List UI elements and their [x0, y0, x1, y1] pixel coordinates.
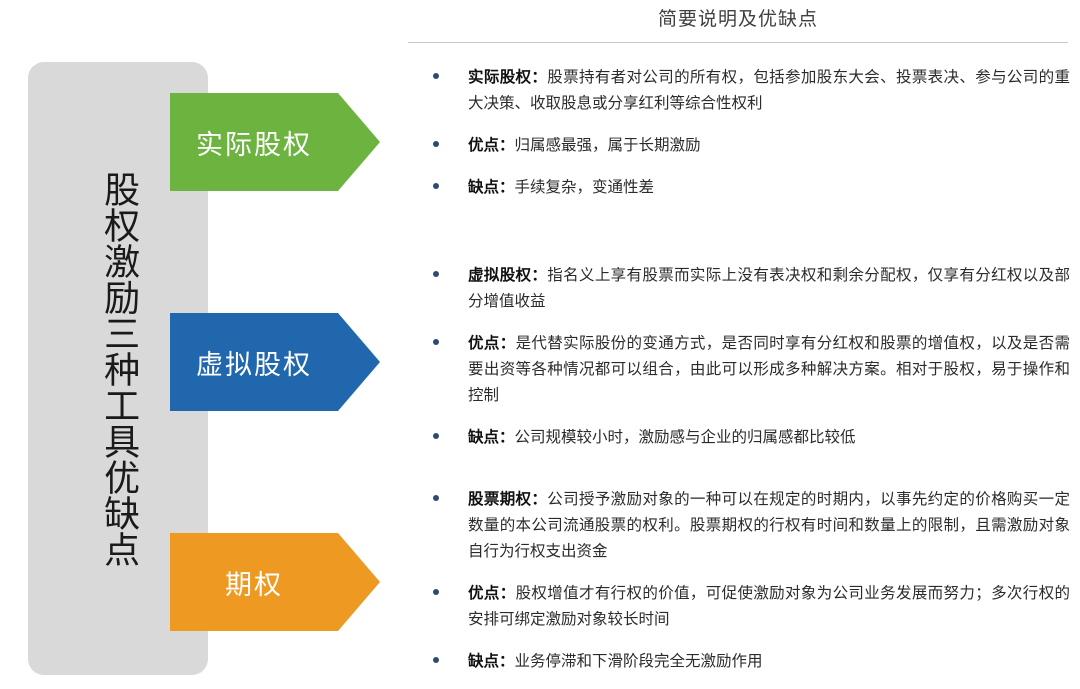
bullet-dot-icon [433, 183, 439, 189]
bullet-lead-label: 股票期权： [468, 490, 547, 508]
bullet-text: 优点：归属感最强，属于长期激励 [468, 132, 1070, 158]
bullet-body-text: 指名义上享有股票而实际上没有表决权和剩余分配权，仅享有分红权以及部分增值收益 [468, 266, 1070, 310]
bullet-lead-label: 优点： [468, 334, 516, 352]
bullet-lead-label: 实际股权： [468, 68, 547, 86]
arrow-stock-option[interactable]: 期权 [170, 533, 380, 631]
arrow-actual-equity[interactable]: 实际股权 [170, 93, 380, 191]
bullet-lead-label: 优点： [468, 584, 516, 602]
bullet-dot-icon [433, 657, 439, 663]
bullet-dot-icon [433, 433, 439, 439]
infographic-canvas: 简要说明及优缺点 股权激励三种工具优缺点 实际股权 虚拟股权 期权 实际股权：股… [0, 0, 1080, 689]
bullet-text: 实际股权：股票持有者对公司的所有权，包括参加股东大会、投票表决、参与公司的重大决… [468, 64, 1070, 116]
bullet-row: 优点：是代替实际股份的变通方式，是否同时享有分红权和股票的增值权，以及是否需要出… [410, 330, 1070, 408]
bullet-dot-icon [433, 495, 439, 501]
bullet-row: 优点：归属感最强，属于长期激励 [410, 132, 1070, 158]
bullet-row: 优点：股权增值才有行权的价值，可促使激励对象为公司业务发展而努力；多次行权的安排… [410, 580, 1070, 632]
bullet-dot-icon [433, 141, 439, 147]
bullet-text: 缺点：公司规模较小时，激励感与企业的归属感都比较低 [468, 424, 1070, 450]
section-stock-option: 股票期权：公司授予激励对象的一种可以在规定的时期内，以事先约定的价格购买一定数量… [410, 486, 1070, 674]
bullet-body-text: 股票持有者对公司的所有权，包括参加股东大会、投票表决、参与公司的重大决策、收取股… [468, 68, 1070, 112]
bullet-lead-label: 优点： [468, 136, 515, 154]
bullet-body-text: 公司授予激励对象的一种可以在规定的时期内，以事先约定的价格购买一定数量的本公司流… [468, 490, 1070, 560]
bullet-text: 股票期权：公司授予激励对象的一种可以在规定的时期内，以事先约定的价格购买一定数量… [468, 486, 1070, 564]
bullet-row: 缺点：手续复杂，变通性差 [410, 174, 1070, 200]
bullet-row: 股票期权：公司授予激励对象的一种可以在规定的时期内，以事先约定的价格购买一定数量… [410, 486, 1070, 564]
header-divider [408, 42, 1068, 43]
bullet-lead-label: 缺点： [468, 428, 515, 446]
bullet-body-text: 业务停滞和下滑阶段完全无激励作用 [515, 652, 763, 670]
page-title: 简要说明及优缺点 [408, 6, 1068, 34]
bullet-body-text: 是代替实际股份的变通方式，是否同时享有分红权和股票的增值权，以及是否需要出资等各… [468, 334, 1070, 404]
bullet-lead-label: 缺点： [468, 652, 515, 670]
bullet-body-text: 归属感最强，属于长期激励 [515, 136, 701, 154]
bullet-lead-label: 缺点： [468, 178, 515, 196]
left-panel-vertical-text: 股权激励三种工具优缺点 [89, 171, 147, 567]
bullet-text: 缺点：业务停滞和下滑阶段完全无激励作用 [468, 648, 1070, 674]
arrow-shape [170, 533, 380, 631]
bullet-text: 虚拟股权：指名义上享有股票而实际上没有表决权和剩余分配权，仅享有分红权以及部分增… [468, 262, 1070, 314]
arrow-virtual-equity[interactable]: 虚拟股权 [170, 313, 380, 411]
bullet-body-text: 手续复杂，变通性差 [515, 178, 655, 196]
bullet-text: 缺点：手续复杂，变通性差 [468, 174, 1070, 200]
bullet-lead-label: 虚拟股权： [468, 266, 547, 284]
bullet-text: 优点：股权增值才有行权的价值，可促使激励对象为公司业务发展而努力；多次行权的安排… [468, 580, 1070, 632]
bullet-row: 缺点：公司规模较小时，激励感与企业的归属感都比较低 [410, 424, 1070, 450]
bullet-dot-icon [433, 73, 439, 79]
bullet-body-text: 股权增值才有行权的价值，可促使激励对象为公司业务发展而努力；多次行权的安排可绑定… [468, 584, 1070, 628]
bullet-text: 优点：是代替实际股份的变通方式，是否同时享有分红权和股票的增值权，以及是否需要出… [468, 330, 1070, 408]
section-virtual-equity: 虚拟股权：指名义上享有股票而实际上没有表决权和剩余分配权，仅享有分红权以及部分增… [410, 262, 1070, 450]
arrow-shape [170, 93, 380, 191]
bullet-row: 实际股权：股票持有者对公司的所有权，包括参加股东大会、投票表决、参与公司的重大决… [410, 64, 1070, 116]
bullet-dot-icon [433, 271, 439, 277]
bullet-body-text: 公司规模较小时，激励感与企业的归属感都比较低 [515, 428, 856, 446]
bullet-dot-icon [433, 339, 439, 345]
arrow-shape [170, 313, 380, 411]
section-actual-equity: 实际股权：股票持有者对公司的所有权，包括参加股东大会、投票表决、参与公司的重大决… [410, 64, 1070, 200]
bullet-row: 虚拟股权：指名义上享有股票而实际上没有表决权和剩余分配权，仅享有分红权以及部分增… [410, 262, 1070, 314]
bullet-row: 缺点：业务停滞和下滑阶段完全无激励作用 [410, 648, 1070, 674]
bullet-dot-icon [433, 589, 439, 595]
